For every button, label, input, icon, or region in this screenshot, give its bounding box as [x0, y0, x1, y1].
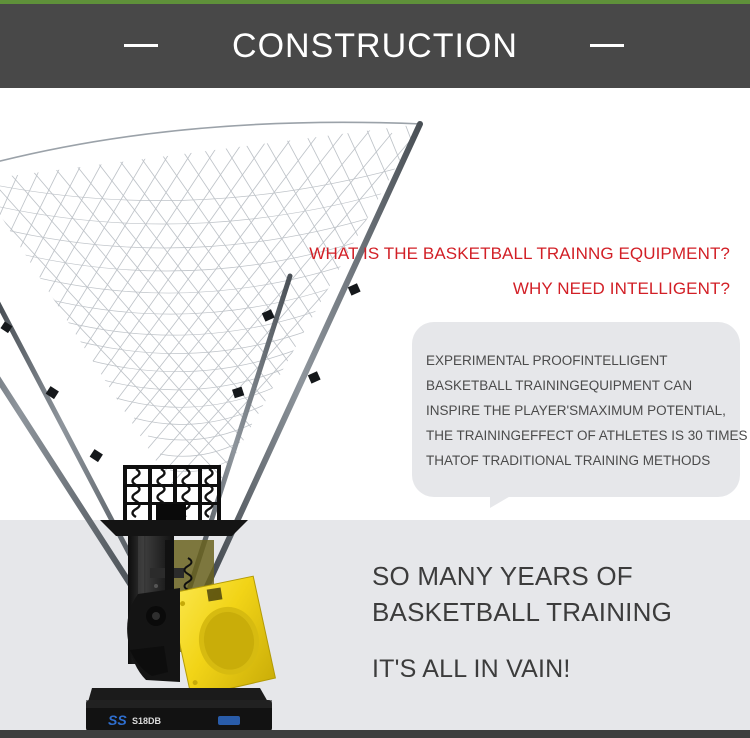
bubble-line-3: INSPIRE THE PLAYER'SMAXIMUM POTENTIAL, — [426, 398, 728, 423]
collector-tray — [100, 520, 248, 536]
speech-bubble: EXPERIMENTAL PROOFINTELLIGENT BASKETBALL… — [412, 322, 740, 497]
content-stage: SS S18DB WHAT IS THE BASKETBALL TRAINNG … — [0, 88, 750, 730]
bottom-bar — [0, 730, 750, 738]
page-root: CONSTRUCTION — [0, 0, 750, 738]
statement-line-1: SO MANY YEARS OF — [372, 558, 742, 594]
speech-bubble-text: EXPERIMENTAL PROOFINTELLIGENT BASKETBALL… — [412, 348, 740, 473]
statement-spacer — [372, 630, 742, 652]
machine-brand-text: SS — [108, 712, 127, 728]
machine-base: SS S18DB — [86, 688, 272, 730]
statement-block: SO MANY YEARS OF BASKETBALL TRAINING IT'… — [372, 558, 742, 686]
question-line-1: WHAT IS THE BASKETBALL TRAINNG EQUIPMENT… — [170, 236, 730, 271]
ball-hopper — [123, 465, 221, 522]
statement-line-2: BASKETBALL TRAINING — [372, 594, 742, 630]
bubble-line-5: THATOF TRADITIONAL TRAINING METHODS — [426, 448, 728, 473]
motor-housing — [127, 588, 180, 682]
statement-punchline: IT'S ALL IN VAIN! — [372, 652, 742, 686]
bubble-line-1: EXPERIMENTAL PROOFINTELLIGENT — [426, 348, 728, 373]
header-dash-right-icon — [590, 44, 624, 47]
net-rim — [0, 122, 422, 184]
question-line-2: WHY NEED INTELLIGENT? — [170, 271, 730, 306]
machine-model-text: S18DB — [132, 716, 162, 726]
question-block: WHAT IS THE BASKETBALL TRAINNG EQUIPMENT… — [170, 236, 730, 306]
bubble-line-2: BASKETBALL TRAININGEQUIPMENT CAN — [426, 373, 728, 398]
page-title: CONSTRUCTION — [0, 24, 750, 68]
bubble-line-4: THE TRAININGEFFECT OF ATHLETES IS 30 TIM… — [426, 423, 728, 448]
section-header: CONSTRUCTION — [0, 4, 750, 88]
